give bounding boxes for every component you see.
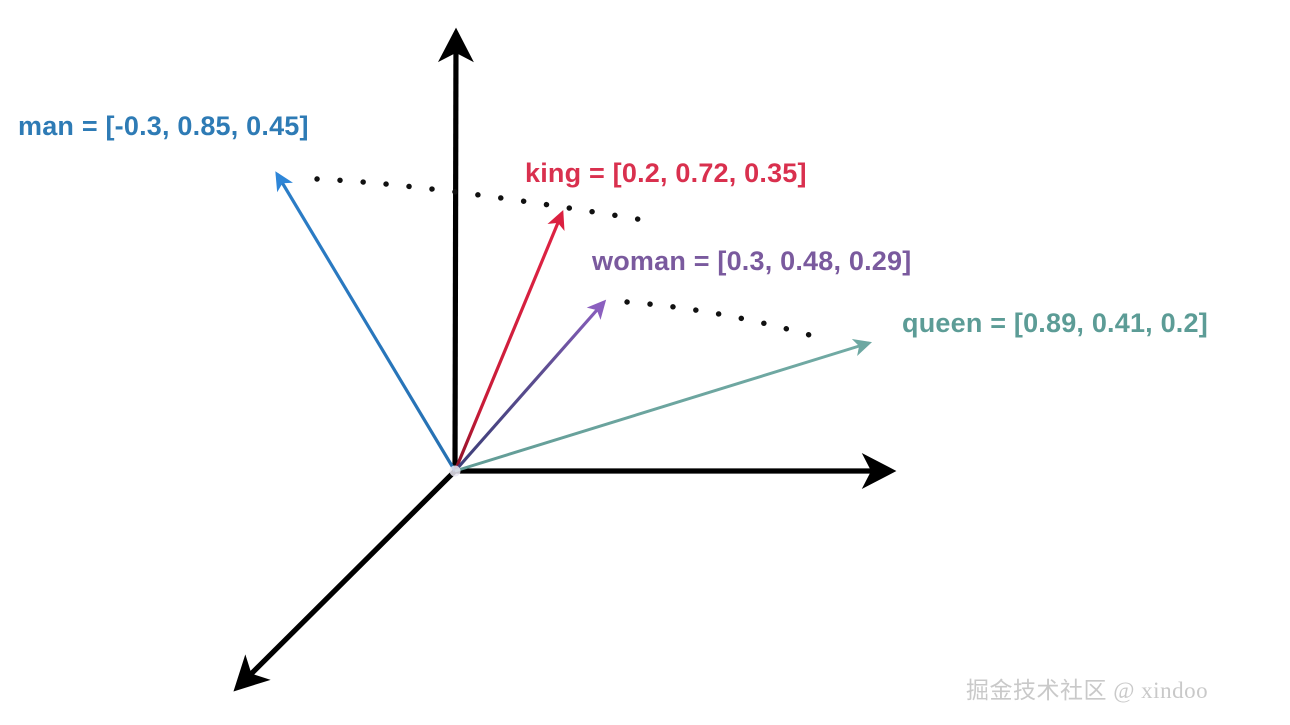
vector-label-king: king = [0.2, 0.72, 0.35] bbox=[525, 160, 807, 187]
diagram-canvas bbox=[0, 0, 1290, 725]
z-axis bbox=[238, 470, 456, 687]
vector-man bbox=[277, 174, 455, 471]
vector-queen bbox=[455, 343, 869, 471]
vector-woman bbox=[455, 302, 604, 471]
vector-space-diagram: man = [-0.3, 0.85, 0.45] king = [0.2, 0.… bbox=[0, 0, 1290, 725]
vector-king bbox=[455, 213, 562, 471]
vector-label-woman: woman = [0.3, 0.48, 0.29] bbox=[592, 248, 911, 275]
watermark: 掘金技术社区 @ xindoo bbox=[966, 679, 1208, 702]
vector-label-man: man = [-0.3, 0.85, 0.45] bbox=[18, 113, 309, 140]
y-axis bbox=[455, 34, 456, 472]
woman-to-queen-dotted-connector bbox=[627, 302, 830, 341]
vector-label-queen: queen = [0.89, 0.41, 0.2] bbox=[902, 310, 1208, 337]
origin-point bbox=[450, 466, 461, 477]
